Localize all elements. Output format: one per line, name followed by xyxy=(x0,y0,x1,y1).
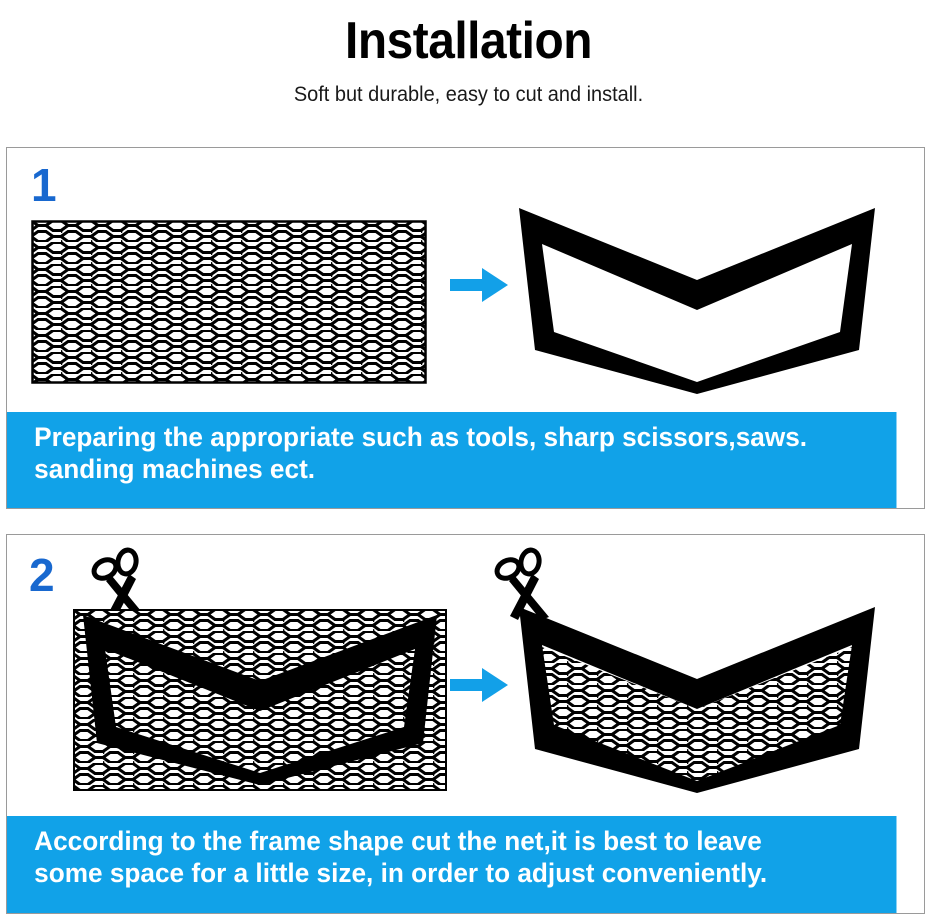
caption-line: According to the frame shape cut the net… xyxy=(34,826,883,858)
step-2-illustration-stage: 2 xyxy=(7,535,924,816)
page-title: Installation xyxy=(37,0,899,69)
chevron-grille-frame-empty xyxy=(507,198,887,398)
step-1-caption: Preparing the appropriate such as tools,… xyxy=(7,412,896,508)
caption-line: some space for a little size, in order t… xyxy=(34,858,883,890)
step-1-illustration-stage: 1 xyxy=(7,148,924,413)
step-number-1: 1 xyxy=(31,162,57,208)
page-subtitle: Soft but durable, easy to cut and instal… xyxy=(23,69,913,107)
arrow-right-icon xyxy=(448,663,510,707)
step-number-2: 2 xyxy=(29,552,55,598)
caption-line: sanding machines ect. xyxy=(34,454,883,486)
mesh-sheet-rectangle xyxy=(31,220,427,384)
caption-line: Preparing the appropriate such as tools,… xyxy=(34,422,883,454)
arrow-right-icon xyxy=(448,263,510,307)
step-2-caption: According to the frame shape cut the net… xyxy=(7,816,896,913)
header: Installation Soft but durable, easy to c… xyxy=(0,0,937,140)
mesh-sheet-with-frame-overlay xyxy=(73,609,447,791)
step-panel-2: 2 xyxy=(6,534,925,914)
installation-infographic: Installation Soft but durable, easy to c… xyxy=(0,0,937,924)
chevron-grille-frame-filled-with-mesh xyxy=(507,597,887,797)
step-panel-1: 1 Preparing the appropriate s xyxy=(6,147,925,509)
